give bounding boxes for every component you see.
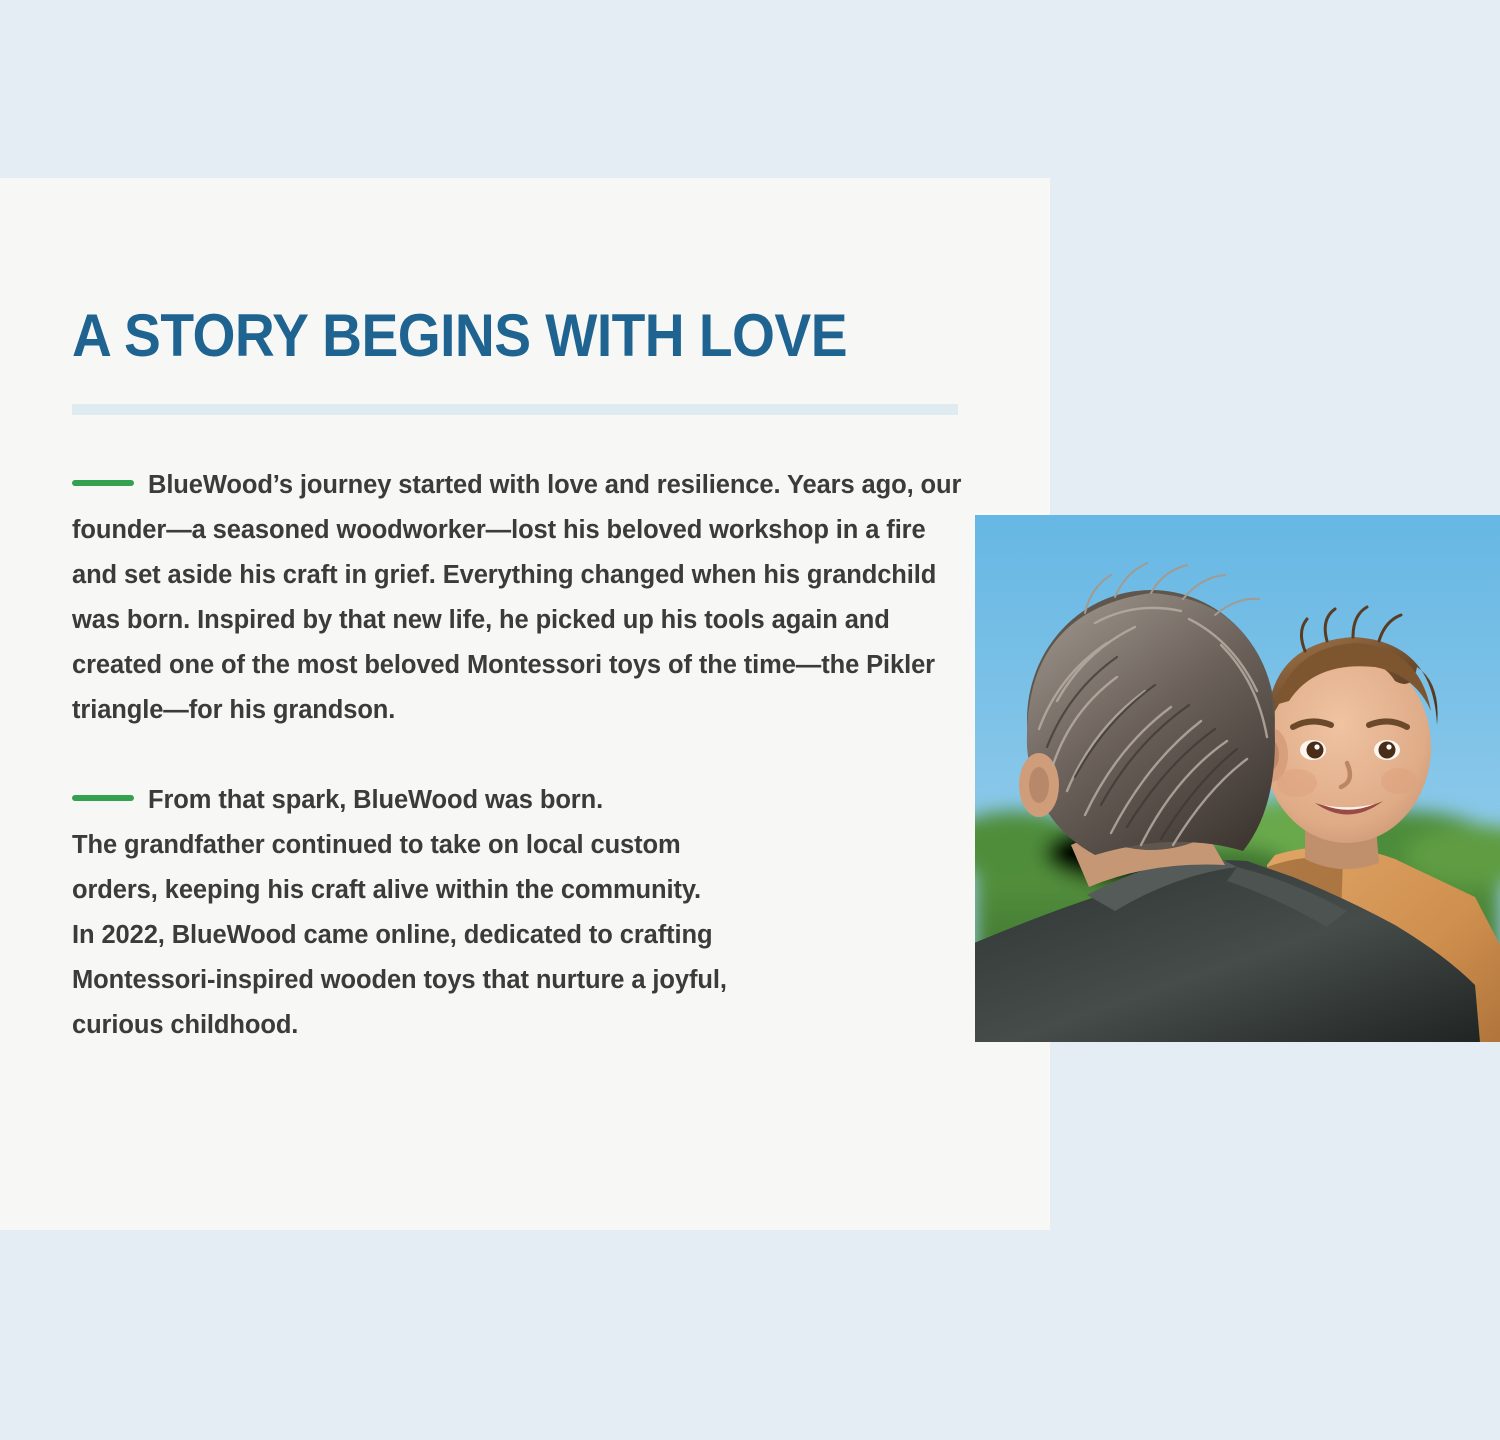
- story-card: A Story Begins With Love BlueWood’s jour…: [0, 178, 1050, 1230]
- green-dash-icon: [72, 795, 134, 801]
- story-body: BlueWood’s journey started with love and…: [72, 463, 962, 1048]
- paragraph-1-lead: BlueWood’s journey started with love and…: [148, 471, 780, 499]
- story-paragraph-2: From that spark, BlueWood was born. The …: [72, 778, 962, 1048]
- green-dash-icon: [72, 480, 134, 486]
- story-card-content: A Story Begins With Love BlueWood’s jour…: [72, 304, 962, 1048]
- story-section: A Story Begins With Love BlueWood’s jour…: [0, 0, 1500, 1440]
- headline-divider: [72, 404, 958, 415]
- paragraph-2-lead: From that spark, BlueWood was born.: [148, 786, 603, 814]
- grandfather-and-toddler-photo: [975, 515, 1500, 1042]
- story-paragraph-1: BlueWood’s journey started with love and…: [72, 463, 962, 733]
- story-photo: [975, 515, 1500, 1042]
- paragraph-1-body: Years ago, our founder—a seasoned woodwo…: [72, 471, 961, 724]
- page-title: A Story Begins With Love: [72, 304, 891, 368]
- paragraph-2-body: The grandfather continued to take on loc…: [72, 831, 727, 1039]
